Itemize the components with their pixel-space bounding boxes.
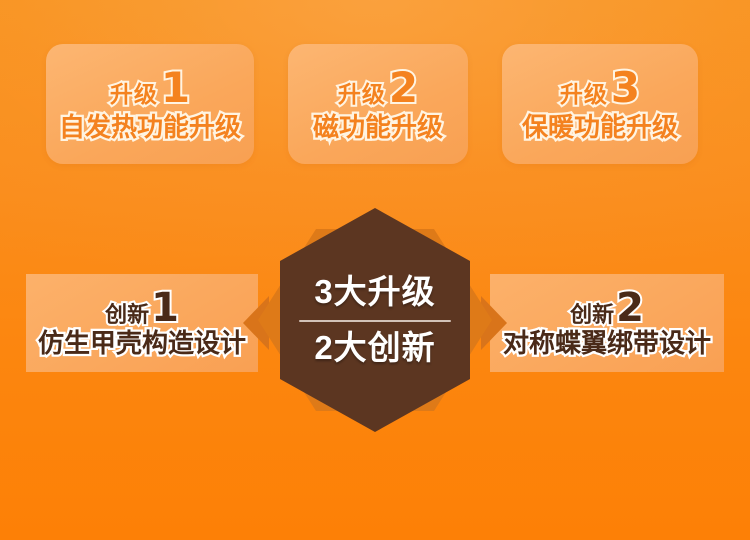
upgrade-card-3-number: 3: [611, 67, 640, 109]
upgrade-card-1-title: 自发热功能升级: [59, 113, 241, 142]
center-divider: [299, 320, 451, 322]
center-hexagon-text: 3大升级 2大创新: [245, 205, 505, 435]
upgrade-card-2-title: 磁功能升级: [313, 113, 443, 142]
innovation-card-2-heading: 创新 2: [570, 288, 644, 328]
center-line-2: 2大创新: [314, 330, 435, 367]
upgrade-card-3-label: 升级: [560, 83, 608, 106]
innovation-card-1[interactable]: 创新 1 仿生甲壳构造设计: [26, 274, 258, 372]
upgrade-card-2[interactable]: 升级 2 磁功能升级: [288, 44, 468, 164]
innovation-card-2[interactable]: 创新 2 对称蝶翼绑带设计: [490, 274, 724, 372]
upgrade-card-2-number: 2: [389, 67, 418, 109]
upgrade-card-1-number: 1: [161, 67, 190, 109]
upgrade-card-3-title: 保暖功能升级: [522, 113, 678, 142]
innovation-card-2-title: 对称蝶翼绑带设计: [503, 329, 711, 358]
upgrade-card-2-label: 升级: [338, 83, 386, 106]
innovation-card-1-heading: 创新 1: [105, 288, 179, 328]
innovation-card-1-title: 仿生甲壳构造设计: [38, 329, 246, 358]
innovation-card-1-label: 创新: [105, 304, 149, 326]
upgrade-card-1-heading: 升级 1: [110, 67, 190, 109]
center-hexagon-badge[interactable]: 3大升级 2大创新: [245, 205, 505, 435]
innovation-card-1-number: 1: [151, 288, 179, 328]
center-line-1: 3大升级: [314, 274, 435, 311]
upgrade-card-3[interactable]: 升级 3 保暖功能升级: [502, 44, 698, 164]
upgrade-card-1[interactable]: 升级 1 自发热功能升级: [46, 44, 254, 164]
upgrade-card-2-heading: 升级 2: [338, 67, 418, 109]
innovation-card-2-label: 创新: [570, 304, 614, 326]
innovation-card-2-number: 2: [616, 288, 644, 328]
upgrade-card-1-label: 升级: [110, 83, 158, 106]
upgrade-card-3-heading: 升级 3: [560, 67, 640, 109]
infographic-stage: 升级 1 自发热功能升级 升级 2 磁功能升级 升级 3 保暖功能升级 创新 1…: [0, 0, 750, 540]
